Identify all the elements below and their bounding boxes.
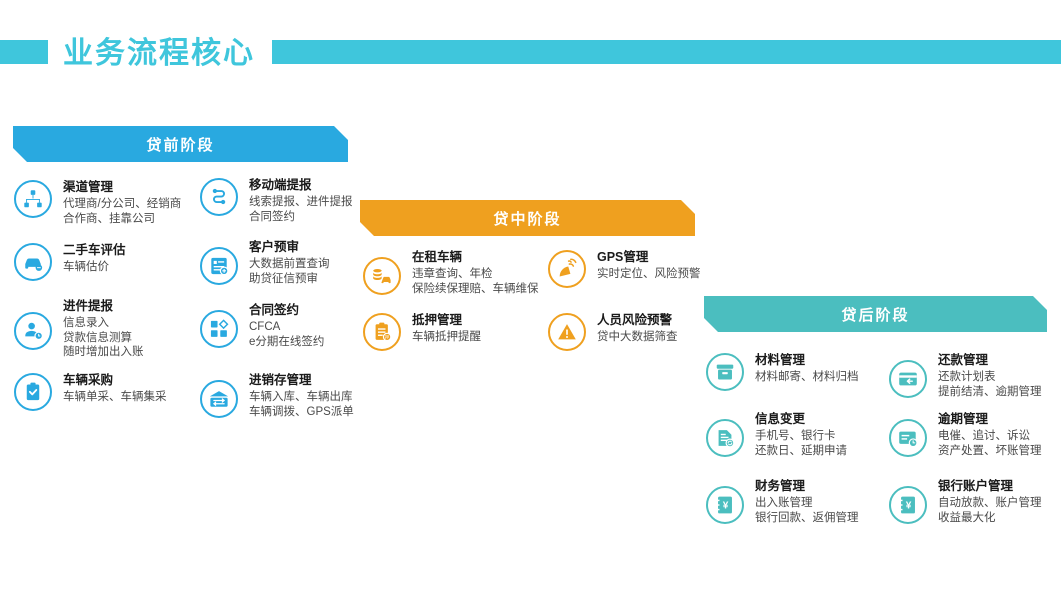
yuan-book-icon: ¥: [889, 486, 927, 524]
list-item-desc-line: 资产处置、坏账管理: [938, 444, 1042, 459]
list-item[interactable]: ¥ 财务管理 出入账管理 银行回款、返佣管理: [706, 479, 859, 525]
list-item-text: GPS管理 实时定位、风险预警: [597, 250, 701, 282]
list-item-desc-line: 大数据前置查询: [249, 257, 330, 272]
list-item-text: 渠道管理 代理商/分公司、经销商 合作商、挂靠公司: [63, 180, 181, 226]
stage-banner-label: 贷中阶段: [493, 208, 561, 229]
clipboard-check-icon: [14, 373, 52, 411]
list-item-title: 进销存管理: [249, 373, 354, 388]
mortgage-doc-icon: 押: [363, 313, 401, 351]
list-item-text: 车辆采购 车辆单采、车辆集采: [63, 373, 167, 405]
header-accent-bar-left: [0, 40, 48, 64]
list-item-desc-line: 自动放款、账户管理: [938, 496, 1042, 511]
list-item[interactable]: 合同签约 CFCA e分期在线签约: [200, 303, 324, 349]
list-item-desc-line: 银行回款、返佣管理: [755, 511, 859, 526]
list-item-title: 合同签约: [249, 303, 324, 318]
list-item-text: 人员风险预警 贷中大数据筛查: [597, 313, 678, 345]
mobile-flow-icon: [200, 178, 238, 216]
stage-banner-in-loan: 贷中阶段: [360, 200, 695, 236]
list-item-text: 进销存管理 车辆入库、车辆出库 车辆调拨、GPS派单: [249, 373, 354, 419]
list-item-desc-line: 手机号、银行卡: [755, 429, 847, 444]
list-item[interactable]: 进销存管理 车辆入库、车辆出库 车辆调拨、GPS派单: [200, 373, 354, 419]
user-stamp-icon: [14, 312, 52, 350]
list-item[interactable]: ¥ 银行账户管理 自动放款、账户管理 收益最大化: [889, 479, 1042, 525]
list-item-desc-line: 线索提报、进件提报: [249, 195, 353, 210]
svg-text:¥: ¥: [723, 501, 729, 512]
list-item-desc-line: CFCA: [249, 320, 324, 335]
card-clock-icon: [889, 419, 927, 457]
list-item-desc-line: 出入账管理: [755, 496, 859, 511]
list-item[interactable]: 客户预审 大数据前置查询 助贷征信预审: [200, 240, 330, 286]
list-item-title: 人员风险预警: [597, 313, 678, 328]
list-item-title: 抵押管理: [412, 313, 481, 328]
list-item-title: 在租车辆: [412, 250, 539, 265]
list-item-desc-line: 电催、追讨、诉讼: [938, 429, 1042, 444]
list-item-desc-line: 助贷征信预审: [249, 272, 330, 287]
list-item[interactable]: 车辆采购 车辆单采、车辆集采: [14, 373, 167, 411]
list-item[interactable]: 材料管理 材料邮寄、材料归档: [706, 353, 859, 391]
list-item[interactable]: 押 抵押管理 车辆抵押提醒: [363, 313, 481, 351]
list-item-desc-line: 车辆估价: [63, 260, 126, 275]
list-item-desc-line: 信息录入: [63, 316, 144, 331]
list-item-text: 在租车辆 违章查询、年检 保险续保理赔、车辆维保: [412, 250, 539, 296]
list-item-text: 银行账户管理 自动放款、账户管理 收益最大化: [938, 479, 1042, 525]
list-item-text: 材料管理 材料邮寄、材料归档: [755, 353, 859, 385]
stage-banner-post-loan: 贷后阶段: [704, 296, 1047, 332]
car-icon: [14, 243, 52, 281]
list-item[interactable]: GPS管理 实时定位、风险预警: [548, 250, 701, 288]
list-item-title: 银行账户管理: [938, 479, 1042, 494]
list-item[interactable]: 移动端提报 线索提报、进件提报 合同签约: [200, 178, 353, 224]
list-item-desc-line: 保险续保理赔、车辆维保: [412, 282, 539, 297]
list-item-desc-line: 提前结清、逾期管理: [938, 385, 1042, 400]
list-item-text: 抵押管理 车辆抵押提醒: [412, 313, 481, 345]
list-item[interactable]: 人员风险预警 贷中大数据筛查: [548, 313, 678, 351]
org-chart-icon: [14, 180, 52, 218]
list-item-title: 二手车评估: [63, 243, 126, 258]
list-item-title: 进件提报: [63, 299, 144, 314]
list-item[interactable]: 逾期管理 电催、追讨、诉讼 资产处置、坏账管理: [889, 412, 1042, 458]
list-item-title: GPS管理: [597, 250, 701, 265]
list-item-text: 合同签约 CFCA e分期在线签约: [249, 303, 324, 349]
list-item[interactable]: 还款管理 还款计划表 提前结清、逾期管理: [889, 353, 1042, 399]
archive-box-icon: [706, 353, 744, 391]
list-item-desc-line: 还款计划表: [938, 370, 1042, 385]
list-item-title: 还款管理: [938, 353, 1042, 368]
list-item-text: 财务管理 出入账管理 银行回款、返佣管理: [755, 479, 859, 525]
list-item-title: 客户预审: [249, 240, 330, 255]
list-item-desc-line: e分期在线签约: [249, 335, 324, 350]
header-accent-bar-right: [272, 40, 1061, 64]
page-header: 业务流程核心: [0, 32, 1061, 76]
list-item[interactable]: 渠道管理 代理商/分公司、经销商 合作商、挂靠公司: [14, 180, 181, 226]
list-item-title: 渠道管理: [63, 180, 181, 195]
list-item-desc-line: 还款日、延期申请: [755, 444, 847, 459]
list-item[interactable]: 信息变更 手机号、银行卡 还款日、延期申请: [706, 412, 847, 458]
yuan-book-icon: ¥: [706, 486, 744, 524]
list-item-text: 进件提报 信息录入 贷款信息测算 随时增加出入账: [63, 299, 144, 360]
list-item-desc-line: 贷款信息测算: [63, 331, 144, 346]
list-item-desc-line: 车辆抵押提醒: [412, 330, 481, 345]
stage-banner-label: 贷前阶段: [146, 134, 214, 155]
list-item-text: 移动端提报 线索提报、进件提报 合同签约: [249, 178, 353, 224]
svg-text:¥: ¥: [906, 501, 912, 512]
list-item-desc-line: 车辆入库、车辆出库: [249, 390, 354, 405]
list-item-desc-line: 材料邮寄、材料归档: [755, 370, 859, 385]
list-item-desc-line: 违章查询、年检: [412, 267, 539, 282]
list-item-desc-line: 贷中大数据筛查: [597, 330, 678, 345]
list-item-title: 财务管理: [755, 479, 859, 494]
list-item-desc-line: 随时增加出入账: [63, 345, 144, 360]
doc-refresh-icon: [706, 419, 744, 457]
warning-triangle-icon: [548, 313, 586, 351]
list-item-desc-line: 车辆单采、车辆集采: [63, 390, 167, 405]
list-item-text: 客户预审 大数据前置查询 助贷征信预审: [249, 240, 330, 286]
list-item-title: 车辆采购: [63, 373, 167, 388]
credit-review-icon: [200, 247, 238, 285]
list-item-text: 还款管理 还款计划表 提前结清、逾期管理: [938, 353, 1042, 399]
list-item-text: 逾期管理 电催、追讨、诉讼 资产处置、坏账管理: [938, 412, 1042, 458]
rental-car-icon: [363, 257, 401, 295]
list-item-desc-line: 合作商、挂靠公司: [63, 212, 181, 227]
list-item-text: 二手车评估 车辆估价: [63, 243, 126, 275]
inventory-icon: [200, 380, 238, 418]
contract-blocks-icon: [200, 310, 238, 348]
stage-banner-pre-loan: 贷前阶段: [13, 126, 348, 162]
list-item-desc-line: 收益最大化: [938, 511, 1042, 526]
list-item-text: 信息变更 手机号、银行卡 还款日、延期申请: [755, 412, 847, 458]
list-item-title: 材料管理: [755, 353, 859, 368]
list-item-title: 逾期管理: [938, 412, 1042, 427]
svg-text:押: 押: [385, 334, 389, 341]
list-item-desc-line: 合同签约: [249, 210, 353, 225]
gps-signal-icon: [548, 250, 586, 288]
list-item[interactable]: 在租车辆 违章查询、年检 保险续保理赔、车辆维保: [363, 250, 539, 296]
list-item[interactable]: 二手车评估 车辆估价: [14, 243, 126, 281]
card-return-icon: [889, 360, 927, 398]
stage-banner-label: 贷后阶段: [841, 304, 909, 325]
list-item-title: 移动端提报: [249, 178, 353, 193]
list-item[interactable]: 进件提报 信息录入 贷款信息测算 随时增加出入账: [14, 299, 144, 360]
page-title: 业务流程核心: [63, 32, 255, 76]
list-item-desc-line: 车辆调拨、GPS派单: [249, 405, 354, 420]
list-item-title: 信息变更: [755, 412, 847, 427]
list-item-desc-line: 代理商/分公司、经销商: [63, 197, 181, 212]
list-item-desc-line: 实时定位、风险预警: [597, 267, 701, 282]
